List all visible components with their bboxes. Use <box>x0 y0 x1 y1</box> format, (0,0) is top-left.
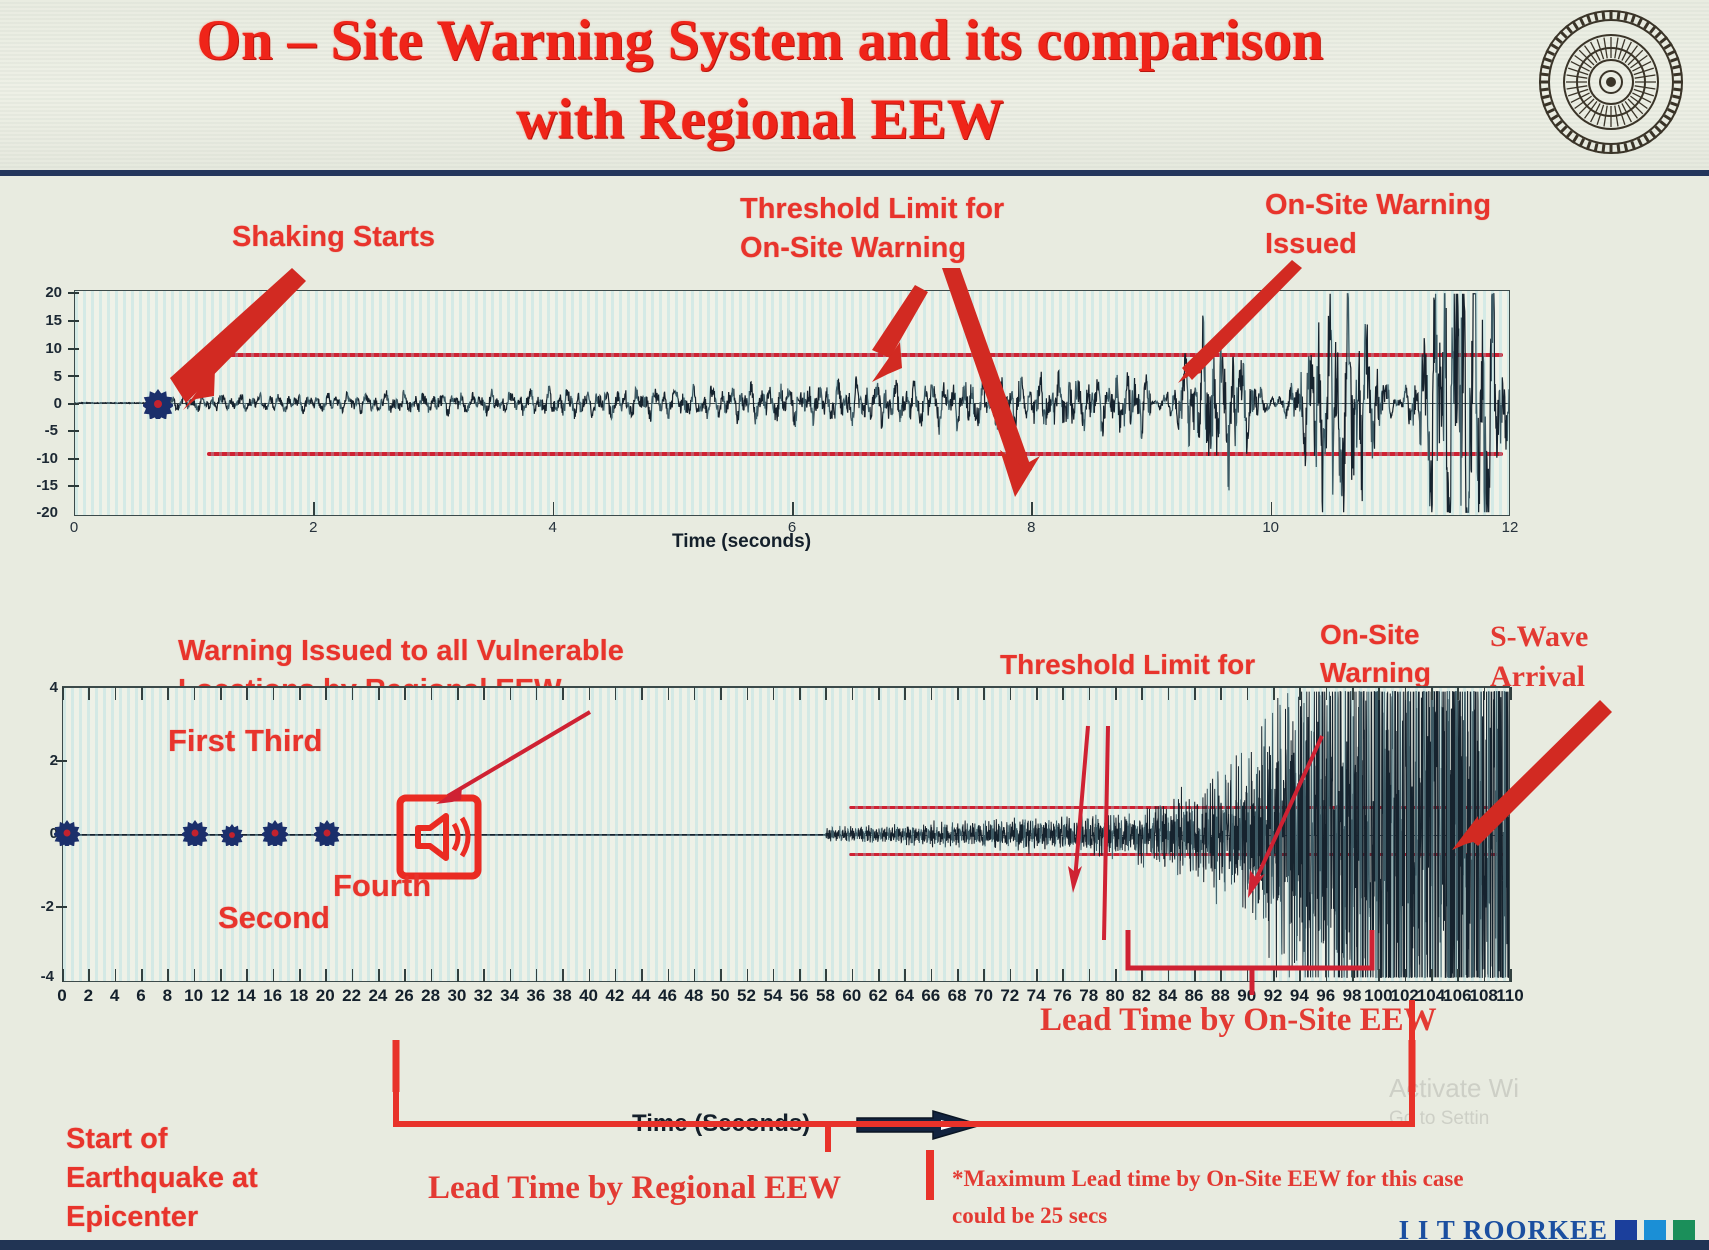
x-tick <box>983 969 985 982</box>
x-tick <box>904 969 906 982</box>
x-tick <box>88 969 90 982</box>
x-tick <box>536 969 538 982</box>
footer-swatch-2 <box>1644 1220 1666 1242</box>
x-tick-top <box>615 687 617 700</box>
x-tick <box>1273 969 1275 982</box>
x-tick-top <box>694 687 696 700</box>
x-tick-top <box>983 687 985 700</box>
x-tick <box>141 969 143 982</box>
x-tick-top <box>194 687 196 700</box>
x-tick-top <box>1273 687 1275 700</box>
x-tick-top <box>1457 687 1459 700</box>
x-tick-label: 68 <box>944 986 970 1006</box>
x-tick-label: 66 <box>918 986 944 1006</box>
x-tick-top <box>747 687 749 700</box>
x-tick <box>220 969 222 982</box>
x-tick-top <box>1194 687 1196 700</box>
x-tick-label: 0 <box>57 519 91 536</box>
x-tick <box>378 969 380 982</box>
x-tick-label: 8 <box>1014 519 1048 536</box>
x-tick-label: 72 <box>997 986 1023 1006</box>
x-tick-label: 10 <box>181 986 207 1006</box>
x-tick <box>1168 969 1170 982</box>
x-tick-top <box>1036 687 1038 700</box>
x-tick-top <box>773 687 775 700</box>
x-tick-top <box>904 687 906 700</box>
x-tick-label: 2 <box>75 986 101 1006</box>
x-tick-label: 54 <box>760 986 786 1006</box>
x-tick <box>562 969 564 982</box>
x-tick <box>1326 969 1328 982</box>
footer-swatch-3 <box>1673 1220 1695 1242</box>
shaking-start-marker-icon <box>143 389 173 419</box>
x-tick-label: 38 <box>549 986 575 1006</box>
x-tick-label: 12 <box>207 986 233 1006</box>
x-tick-top <box>352 687 354 700</box>
x-tick <box>510 969 512 982</box>
marker-fourth-station-icon <box>314 820 340 846</box>
x-tick-label: 40 <box>576 986 602 1006</box>
x-tick-label: 32 <box>470 986 496 1006</box>
x-tick-label: 2 <box>296 519 330 536</box>
x-tick <box>1378 969 1380 982</box>
x-tick-top <box>273 687 275 700</box>
slide-header: On – Site Warning System and its compari… <box>0 0 1709 176</box>
slide-root: On – Site Warning System and its compari… <box>0 0 1709 1250</box>
x-tick <box>615 969 617 982</box>
x-tick-top <box>404 687 406 700</box>
annotation-onsite-warning-bottom-line2: Warning <box>1320 656 1431 689</box>
x-tick <box>457 969 459 982</box>
x-tick-top <box>62 687 64 700</box>
x-tick-top <box>668 687 670 700</box>
x-tick-label: 46 <box>655 986 681 1006</box>
x-tick <box>1510 969 1512 982</box>
x-tick-label: 12 <box>1493 519 1527 536</box>
top-x-axis-label: Time (seconds) <box>672 531 811 553</box>
x-tick <box>1299 969 1301 982</box>
annotation-onsite-warning-top-line2: Issued <box>1265 227 1357 261</box>
x-tick <box>641 969 643 982</box>
x-tick-top <box>1115 687 1117 700</box>
x-tick <box>825 969 827 982</box>
x-tick-top <box>115 687 117 700</box>
x-tick <box>1031 502 1033 516</box>
label-first: First <box>168 723 235 760</box>
annotation-threshold-limit-top-line2: On-Site Warning <box>740 231 966 265</box>
x-tick-top <box>167 687 169 700</box>
x-tick <box>878 969 880 982</box>
x-tick-top <box>720 687 722 700</box>
x-tick-top <box>1299 687 1301 700</box>
x-tick-top <box>1089 687 1091 700</box>
x-tick <box>167 969 169 982</box>
x-tick <box>483 969 485 982</box>
time-direction-arrow-icon <box>855 1108 985 1142</box>
footer-swatch-1 <box>1615 1220 1637 1242</box>
x-tick <box>62 969 64 982</box>
x-tick-top <box>641 687 643 700</box>
x-tick-label: 110 <box>1490 986 1530 1006</box>
x-tick-label: 28 <box>418 986 444 1006</box>
x-tick-top <box>536 687 538 700</box>
x-tick-top <box>88 687 90 700</box>
x-tick <box>1352 969 1354 982</box>
x-tick <box>1431 969 1433 982</box>
x-tick-label: 48 <box>681 986 707 1006</box>
x-tick <box>1036 969 1038 982</box>
x-tick-top <box>1405 687 1407 700</box>
x-tick <box>1484 969 1486 982</box>
x-tick <box>957 969 959 982</box>
x-tick-top <box>1062 687 1064 700</box>
page-title: On – Site Warning System and its compari… <box>150 2 1370 159</box>
x-tick-top <box>1431 687 1433 700</box>
x-tick-label: 10 <box>1254 519 1288 536</box>
x-tick <box>1010 969 1012 982</box>
x-tick-label: 34 <box>497 986 523 1006</box>
x-tick <box>852 969 854 982</box>
x-tick-label: 62 <box>865 986 891 1006</box>
x-tick <box>553 502 555 516</box>
annotation-onsite-warning-bottom-line1: On-Site <box>1320 618 1420 651</box>
annotation-regional-warning-line1: Warning Issued to all Vulnerable <box>178 634 624 668</box>
marker-start-of-earthquake-icon <box>54 820 80 846</box>
windows-activation-watermark: Activate Wi Go to Settin <box>1389 1071 1519 1132</box>
label-third: Third <box>245 723 323 760</box>
label-fourth: Fourth <box>333 868 431 905</box>
x-tick-label: 56 <box>786 986 812 1006</box>
x-tick <box>194 969 196 982</box>
x-tick-top <box>1141 687 1143 700</box>
x-tick <box>325 969 327 982</box>
x-tick-top <box>1010 687 1012 700</box>
x-tick-top <box>799 687 801 700</box>
x-tick <box>352 969 354 982</box>
label-start-of-earthquake-line3: Epicenter <box>66 1200 198 1234</box>
iit-roorkee-emblem-icon <box>1535 6 1687 158</box>
x-tick <box>1457 969 1459 982</box>
x-tick <box>720 969 722 982</box>
x-tick-top <box>431 687 433 700</box>
bottom-x-axis-label: Time (Seconds) <box>632 1110 810 1138</box>
x-tick <box>404 969 406 982</box>
x-tick <box>1220 969 1222 982</box>
x-tick <box>246 969 248 982</box>
x-tick <box>431 969 433 982</box>
x-tick <box>1271 502 1273 516</box>
x-tick-top <box>1378 687 1380 700</box>
x-tick <box>1405 969 1407 982</box>
label-lead-time-onsite: Lead Time by On-Site EEW <box>1040 1002 1437 1039</box>
x-tick-label: 36 <box>523 986 549 1006</box>
marker-first-station-icon <box>182 820 208 846</box>
x-tick-top <box>220 687 222 700</box>
x-tick <box>799 969 801 982</box>
marker-second-station-icon <box>221 824 243 846</box>
x-tick-label: 50 <box>707 986 733 1006</box>
x-tick-label: 60 <box>839 986 865 1006</box>
x-tick-top <box>957 687 959 700</box>
x-tick-top <box>483 687 485 700</box>
annotation-onsite-warning-top-line1: On-Site Warning <box>1265 188 1491 222</box>
x-tick-label: 70 <box>970 986 996 1006</box>
watermark-line2: Go to Settin <box>1389 1106 1519 1132</box>
top-accelerogram-chart <box>74 290 1510 516</box>
x-tick-top <box>141 687 143 700</box>
x-tick-label: 64 <box>891 986 917 1006</box>
x-tick-top <box>1352 687 1354 700</box>
x-tick <box>299 969 301 982</box>
x-tick-label: 4 <box>536 519 570 536</box>
x-tick <box>115 969 117 982</box>
annotation-s-wave-line1: S-Wave <box>1490 620 1588 654</box>
x-tick <box>589 969 591 982</box>
x-tick-label: 16 <box>260 986 286 1006</box>
x-tick <box>273 969 275 982</box>
x-tick-label: 30 <box>444 986 470 1006</box>
x-tick-label: 24 <box>365 986 391 1006</box>
x-tick-label: 22 <box>339 986 365 1006</box>
x-tick-top <box>852 687 854 700</box>
x-tick <box>773 969 775 982</box>
x-tick-label: 4 <box>102 986 128 1006</box>
x-tick-top <box>325 687 327 700</box>
label-second: Second <box>218 900 330 937</box>
x-tick-label: 20 <box>312 986 338 1006</box>
label-lead-time-regional: Lead Time by Regional EEW <box>428 1170 841 1207</box>
x-tick-label: 0 <box>49 986 75 1006</box>
x-tick-top <box>1220 687 1222 700</box>
x-tick <box>1194 969 1196 982</box>
x-tick <box>792 502 794 516</box>
x-tick-top <box>589 687 591 700</box>
x-tick-label: 26 <box>391 986 417 1006</box>
x-tick-top <box>299 687 301 700</box>
marker-third-station-icon <box>262 820 288 846</box>
x-tick-label: 42 <box>602 986 628 1006</box>
annotation-threshold-limit-top-line1: Threshold Limit for <box>740 192 1004 226</box>
x-tick-top <box>457 687 459 700</box>
x-tick <box>668 969 670 982</box>
x-tick <box>694 969 696 982</box>
x-tick <box>313 502 315 516</box>
x-tick-top <box>1168 687 1170 700</box>
footnote-line1: *Maximum Lead time by On-Site EEW for th… <box>952 1166 1464 1192</box>
label-start-of-earthquake-line2: Earthquake at <box>66 1161 258 1195</box>
x-tick-top <box>1484 687 1486 700</box>
top-waveform <box>75 291 1509 515</box>
x-tick-top <box>1247 687 1249 700</box>
label-start-of-earthquake-line1: Start of <box>66 1122 168 1156</box>
x-tick-label: 6 <box>128 986 154 1006</box>
x-tick <box>931 969 933 982</box>
x-tick-top <box>510 687 512 700</box>
x-tick <box>1115 969 1117 982</box>
x-tick-top <box>1510 687 1512 700</box>
x-tick <box>747 969 749 982</box>
x-tick <box>1089 969 1091 982</box>
x-tick-label: 14 <box>233 986 259 1006</box>
x-tick-top <box>878 687 880 700</box>
annotation-threshold-limit-bottom-line1: Threshold Limit for <box>1000 648 1255 681</box>
x-tick-top <box>825 687 827 700</box>
x-tick-top <box>246 687 248 700</box>
x-tick-label: 44 <box>628 986 654 1006</box>
x-tick-top <box>1326 687 1328 700</box>
x-tick-label: 8 <box>154 986 180 1006</box>
x-tick-top <box>931 687 933 700</box>
x-tick-top <box>378 687 380 700</box>
x-tick-label: 18 <box>286 986 312 1006</box>
watermark-line1: Activate Wi <box>1389 1071 1519 1106</box>
x-tick-label: 52 <box>734 986 760 1006</box>
x-tick-top <box>562 687 564 700</box>
x-tick <box>1141 969 1143 982</box>
x-tick <box>1062 969 1064 982</box>
footnote-line2: could be 25 secs <box>952 1203 1107 1229</box>
x-tick-label: 58 <box>812 986 838 1006</box>
bottom-strip <box>0 1240 1709 1250</box>
annotation-shaking-starts: Shaking Starts <box>232 220 435 254</box>
x-tick <box>1247 969 1249 982</box>
